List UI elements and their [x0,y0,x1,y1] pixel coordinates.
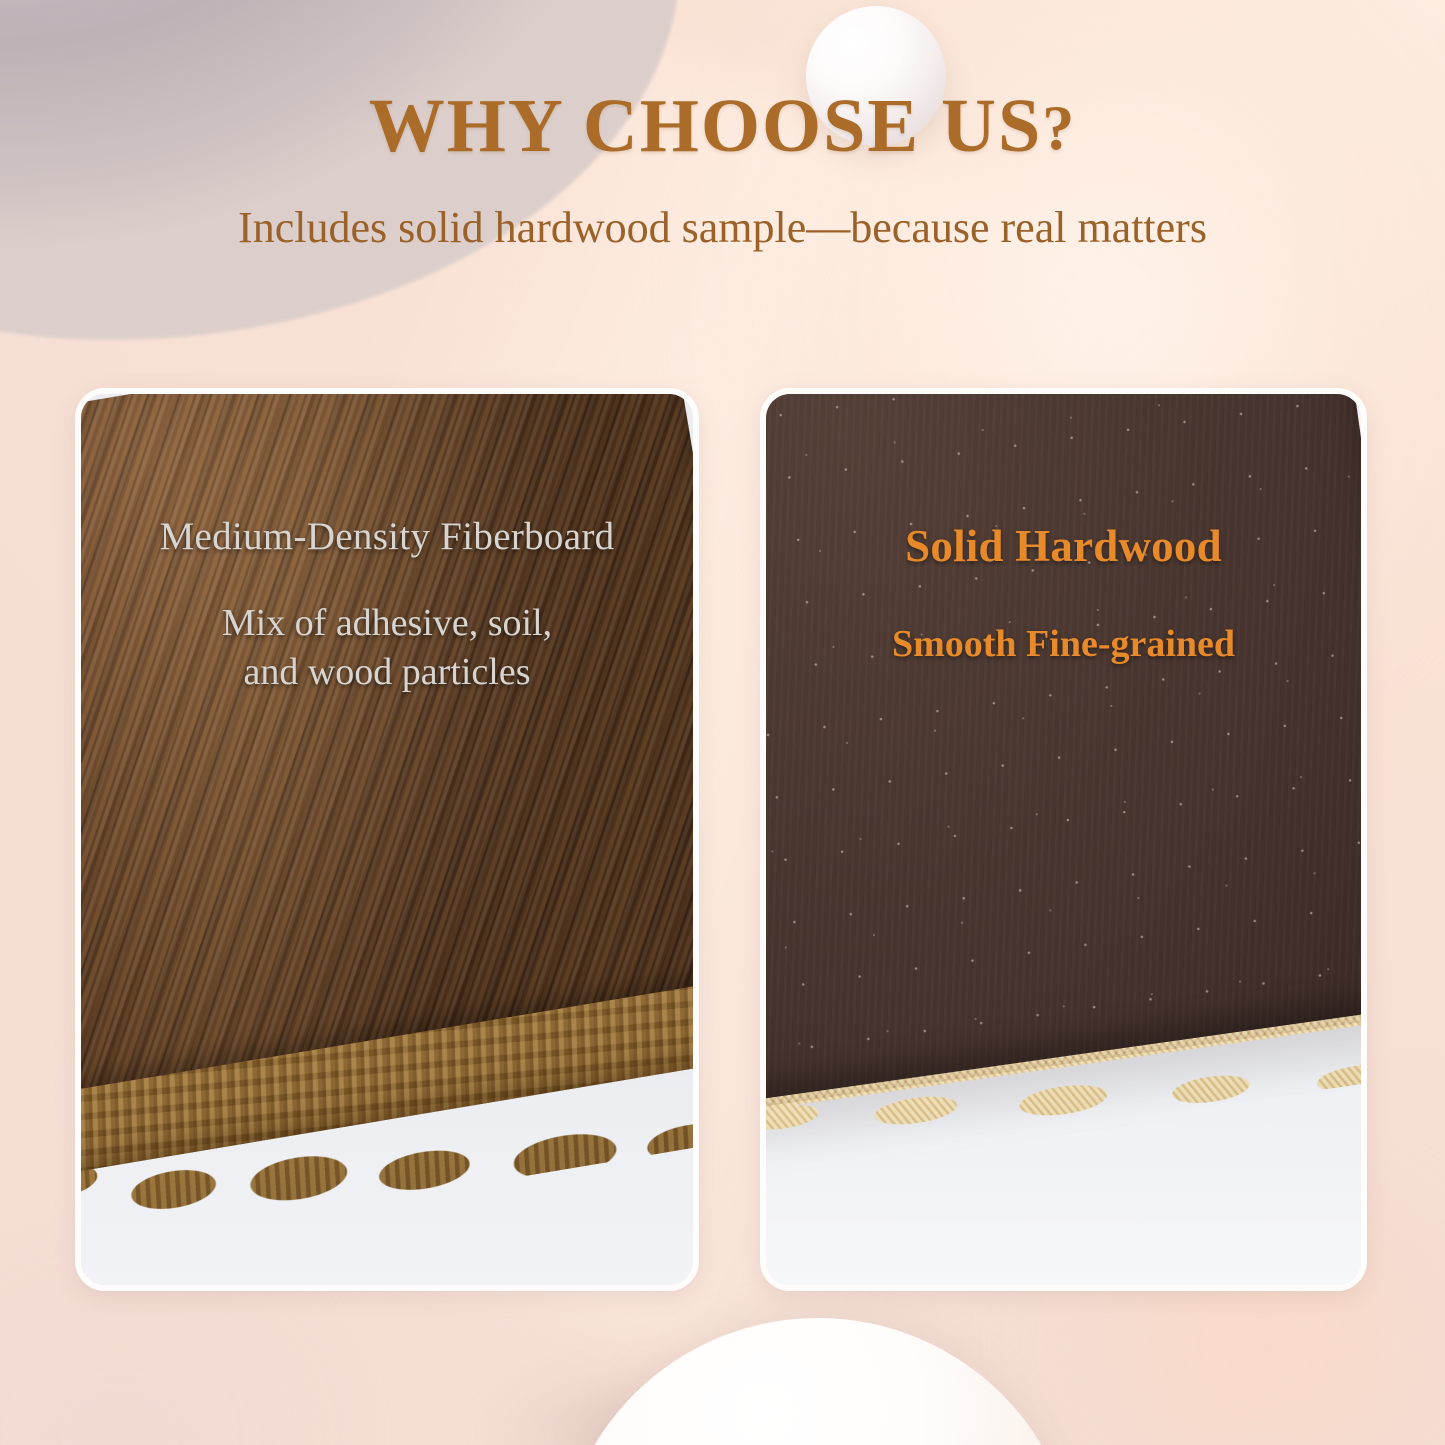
mdf-wood-grain-surface [75,388,699,1099]
poster-canvas: WHY CHOOSE US? Includes solid hardwood s… [0,0,1445,1445]
mdf-caption-title: Medium-Density Fiberboard [81,514,693,559]
page-subtitle: Includes solid hardwood sample—because r… [0,164,1445,252]
hardwood-panel[interactable]: Solid Hardwood Smooth Fine-grained [760,388,1367,1291]
poster-header: WHY CHOOSE US? Includes solid hardwood s… [0,0,1445,252]
hardwood-surface-specks [760,388,1367,1104]
page-title: WHY CHOOSE US? [0,0,1445,164]
hardwood-caption-subtitle: Smooth Fine-grained [766,622,1361,666]
mdf-caption-body: Mix of adhesive, soil, and wood particle… [81,599,693,696]
hardwood-caption-title: Solid Hardwood [766,520,1361,572]
mdf-caption-line-2: and wood particles [81,648,693,697]
comparison-panels: Medium-Density Fiberboard Mix of adhesiv… [0,388,1445,1293]
page-title-text: WHY CHOOSE US [369,84,1043,168]
mdf-caption-line-1: Mix of adhesive, soil, [81,599,693,648]
page-title-question-mark: ? [1042,92,1076,163]
mdf-panel[interactable]: Medium-Density Fiberboard Mix of adhesiv… [75,388,699,1291]
